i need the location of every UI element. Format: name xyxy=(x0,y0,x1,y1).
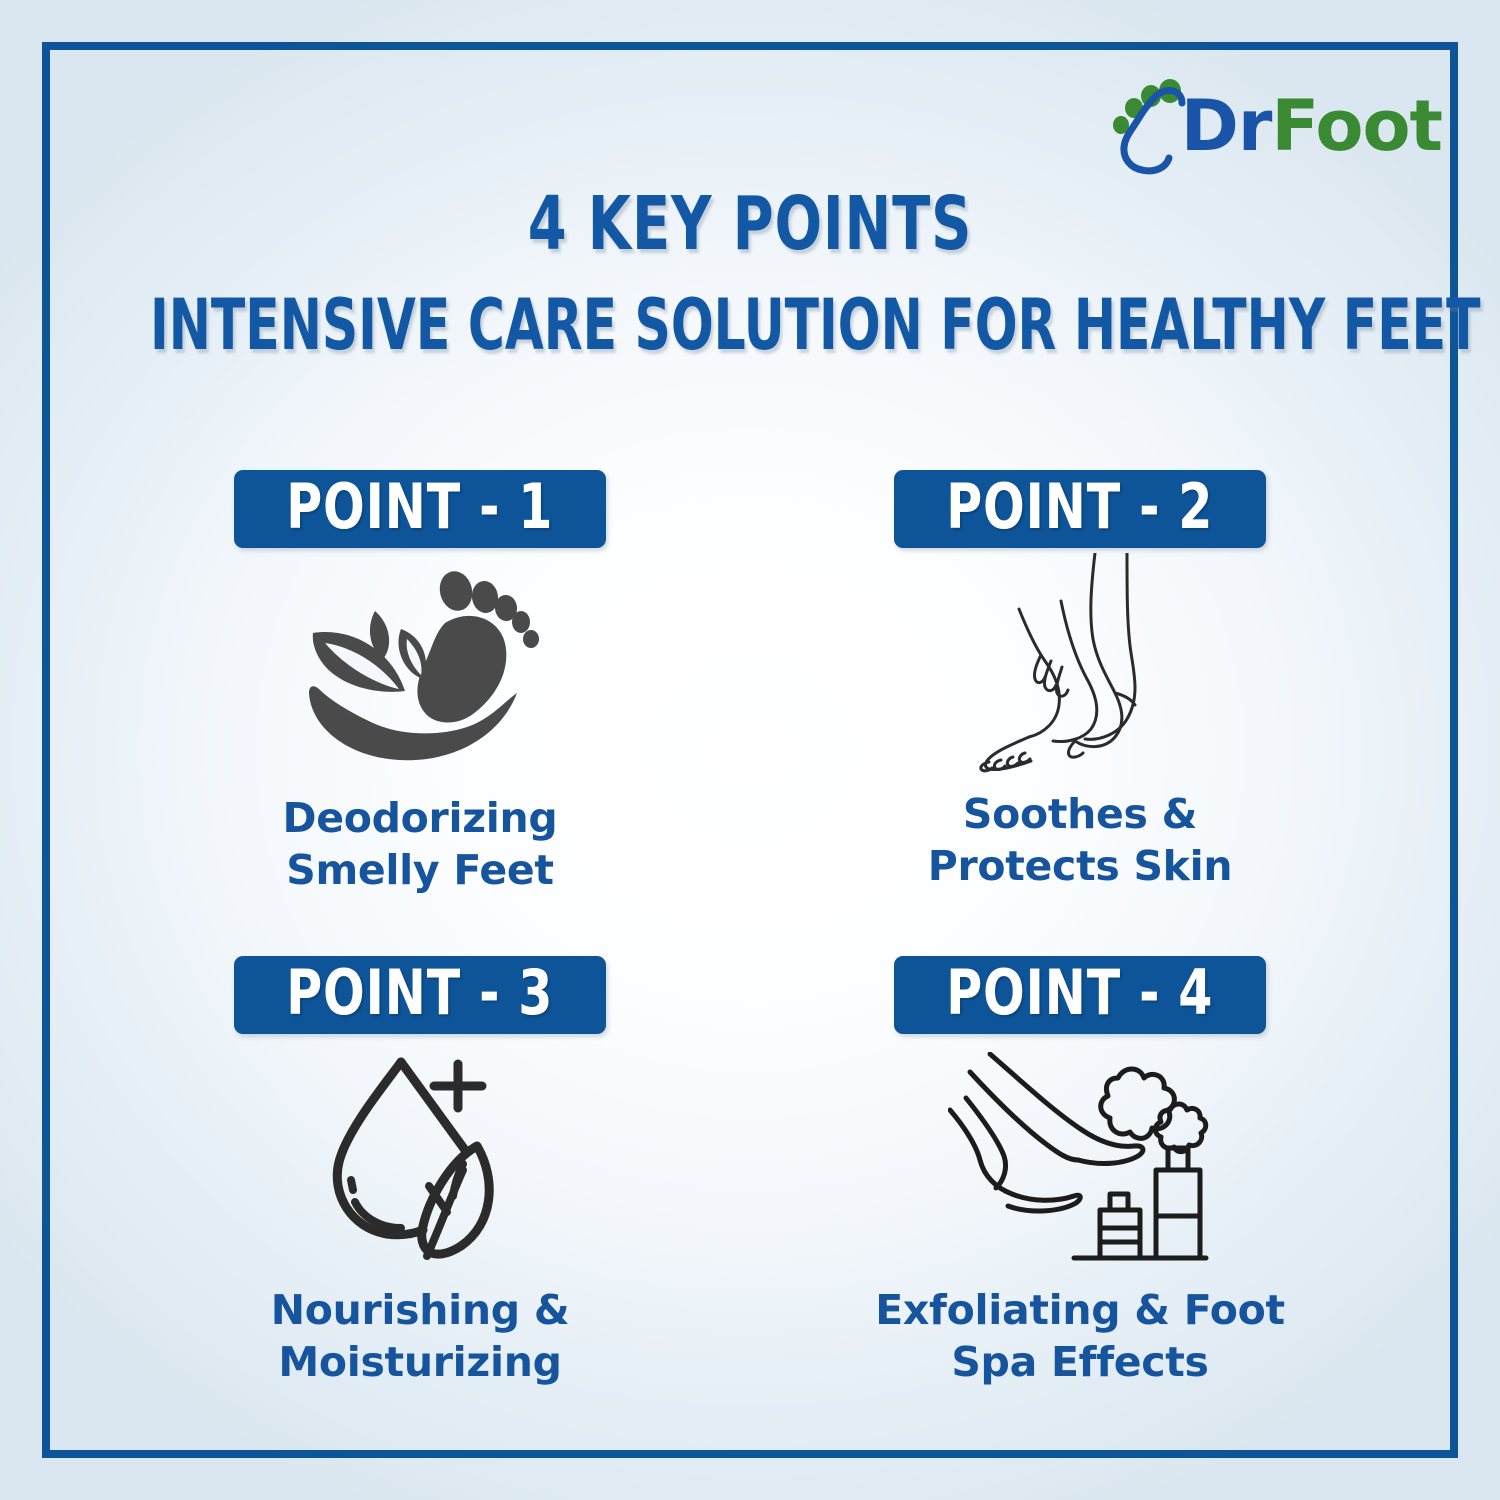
point-caption-1: Deodorizing Smelly Feet xyxy=(283,792,558,897)
brand-logo: DrFoot xyxy=(1109,60,1442,178)
point-badge-2[interactable]: POINT - 2 xyxy=(894,470,1266,548)
point-card-4: POINT - 4 xyxy=(750,956,1410,1430)
water-drop-leaf-plus-icon xyxy=(313,1054,528,1264)
pair-of-bare-feet-icon xyxy=(975,558,1185,768)
point-badge-label-1: POINT - 1 xyxy=(286,476,553,538)
page-subtitle: INTENSIVE CARE SOLUTION FOR HEALTHY FEET xyxy=(150,289,1350,363)
heading-block: 4 KEY POINTS INTENSIVE CARE SOLUTION FOR… xyxy=(0,186,1500,362)
point-badge-label-3: POINT - 3 xyxy=(286,962,553,1024)
point-badge-3[interactable]: POINT - 3 xyxy=(234,956,606,1034)
infographic-poster: DrFoot 4 KEY POINTS INTENSIVE CARE SOLUT… xyxy=(0,0,1500,1500)
point-badge-4[interactable]: POINT - 4 xyxy=(894,956,1266,1034)
point-badge-label-2: POINT - 2 xyxy=(946,476,1213,538)
point-caption-4: Exfoliating & Foot Spa Effects xyxy=(875,1284,1285,1389)
point-card-1: POINT - 1 xyxy=(90,470,750,944)
brand-name-dr: Dr xyxy=(1181,85,1272,167)
point-card-3: POINT - 3 xyxy=(90,956,750,1430)
point-badge-1[interactable]: POINT - 1 xyxy=(234,470,606,548)
point-caption-3: Nourishing & Moisturizing xyxy=(271,1284,570,1389)
points-grid: POINT - 1 xyxy=(90,470,1410,1430)
point-card-2: POINT - 2 xyxy=(750,470,1410,944)
brand-logo-text: DrFoot xyxy=(1181,91,1442,161)
feet-flowers-spa-bottles-icon xyxy=(948,1054,1213,1264)
point-caption-2: Soothes & Protects Skin xyxy=(928,788,1233,893)
page-title: 4 KEY POINTS xyxy=(120,186,1380,263)
foot-leaf-in-hand-icon xyxy=(295,562,545,772)
point-badge-label-4: POINT - 4 xyxy=(946,962,1213,1024)
brand-name-foot: Foot xyxy=(1271,85,1442,167)
